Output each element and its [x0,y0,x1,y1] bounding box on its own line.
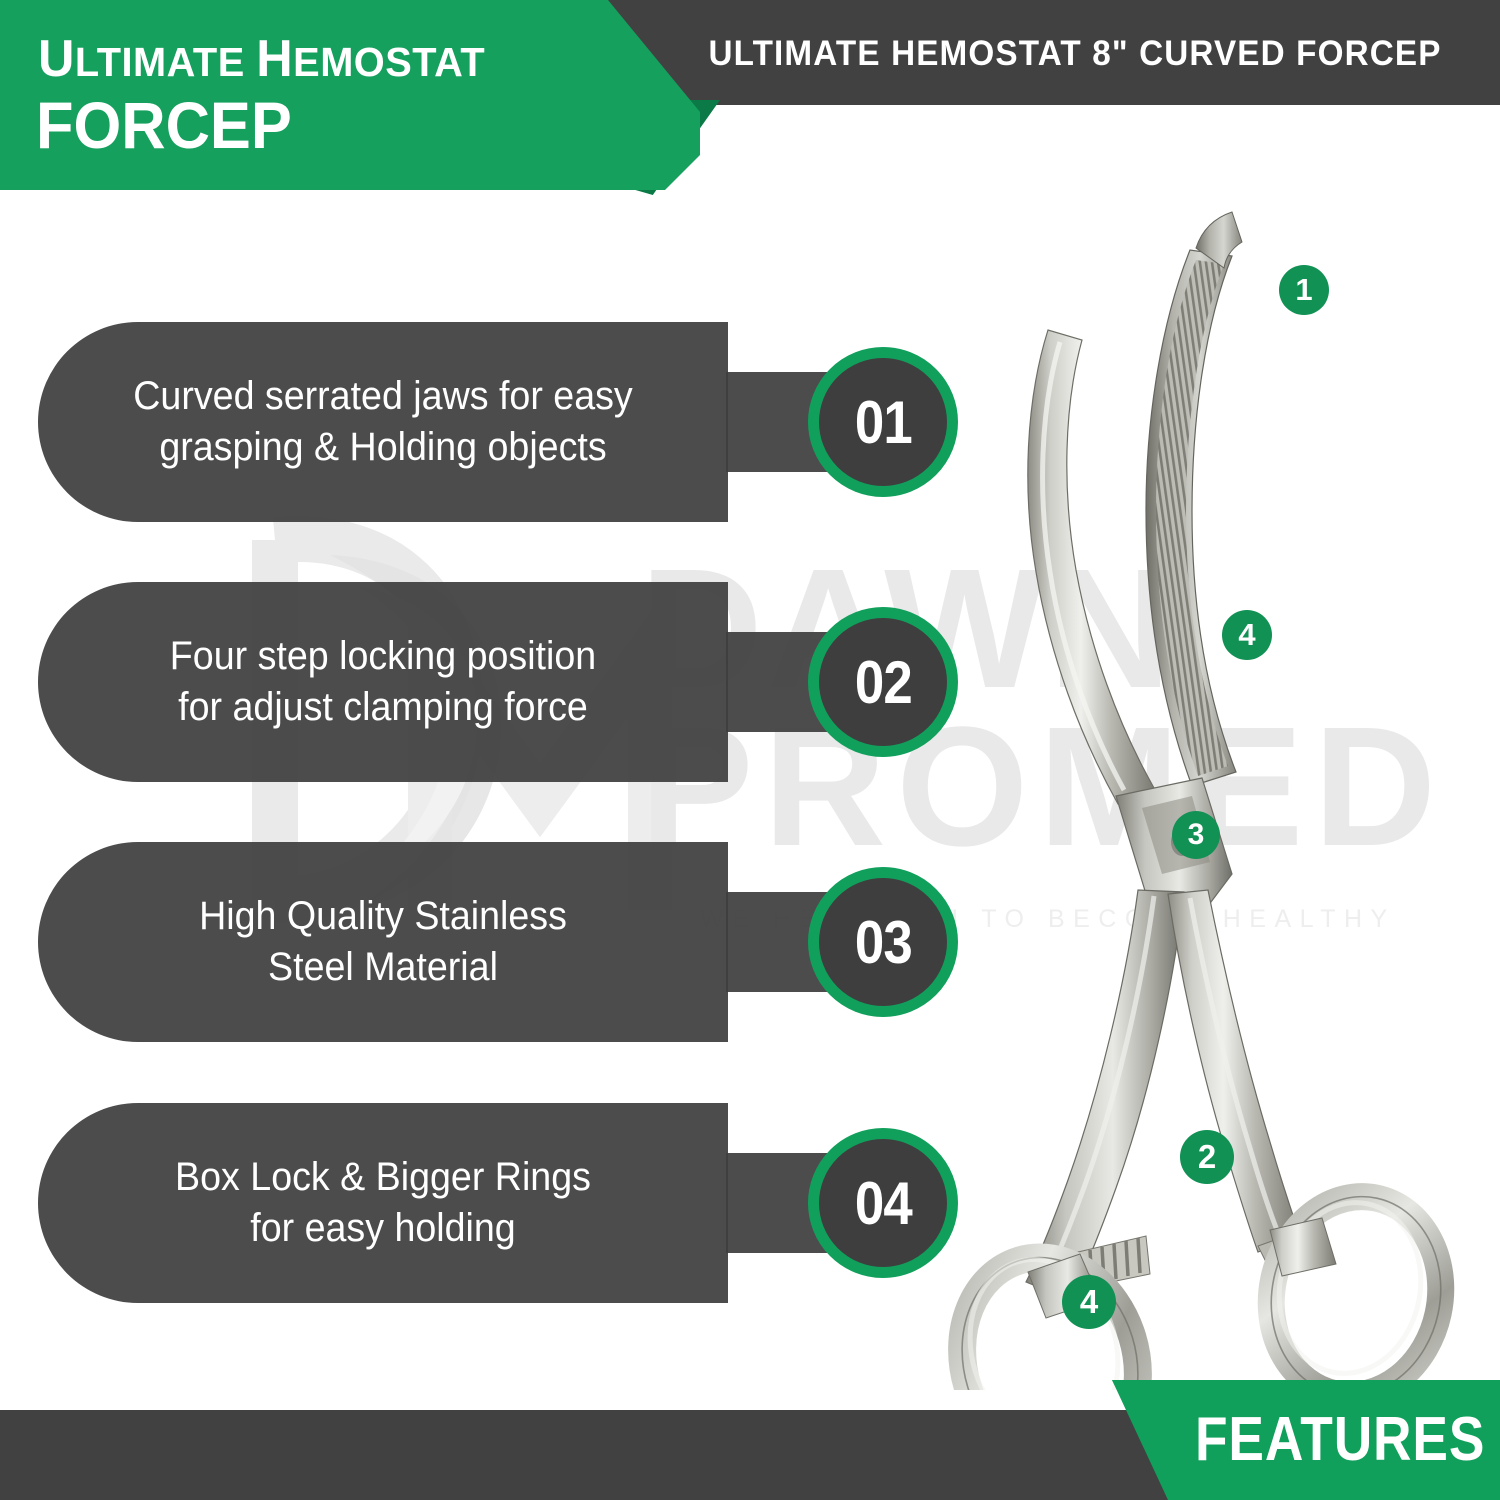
brand-line-1-text-b: EMOSTAT [293,39,485,85]
feature-text-03-line1: High Quality Stainless [199,894,567,938]
forcep-right-shank [1168,890,1300,1252]
feature-text-04-line1: Box Lock & Bigger Rings [175,1155,591,1199]
product-title: ULTIMATE HEMOSTAT 8" CURVED FORCEP [700,34,1451,74]
brand-line-1: ULTIMATE HEMOSTAT [38,29,485,89]
brand-line-1-text-a: LTIMATE [75,39,256,85]
infographic-canvas: DAWN PROMED WE HELP YOU TO BECOME HEALTH… [0,0,1500,1500]
brand-line-1-cap-u: U [38,30,75,88]
feature-text-01: Curved serrated jaws for easy grasping &… [87,322,679,522]
feature-text-02-line2: for adjust clamping force [178,685,588,729]
page-header: ULTIMATE HEMOSTAT 8" CURVED FORCEP ULTIM… [0,0,1500,200]
feature-badge-04[interactable]: 04 [808,1128,958,1278]
forcep-left-shank [1026,890,1184,1300]
feature-text-04-line2: for easy holding [250,1206,515,1250]
page-footer: FEATURES [0,1380,1500,1500]
feature-number-04: 04 [855,1169,912,1238]
feature-badge-02[interactable]: 02 [808,607,958,757]
callout-marker-2: 4 [1222,610,1272,660]
forcep-illustration [940,190,1480,1390]
feature-row-01[interactable]: Curved serrated jaws for easy grasping &… [38,322,958,522]
callout-marker-1: 1 [1279,265,1329,315]
feature-text-02: Four step locking position for adjust cl… [87,582,679,782]
feature-text-01-line1: Curved serrated jaws for easy [133,374,632,418]
feature-text-02-line1: Four step locking position [170,634,596,678]
feature-text-03: High Quality Stainless Steel Material [87,842,679,1042]
callout-marker-4: 2 [1180,1130,1234,1184]
callout-marker-3: 3 [1172,811,1220,859]
product-image-forcep [940,190,1480,1390]
brand-line-1-cap-h: H [256,30,293,88]
feature-badge-03[interactable]: 03 [808,867,958,1017]
feature-number-02: 02 [855,648,912,717]
feature-row-04[interactable]: Box Lock & Bigger Rings for easy holding… [38,1103,958,1303]
callout-marker-5: 4 [1062,1275,1116,1329]
footer-dark-bar [0,1410,1190,1500]
feature-row-03[interactable]: High Quality Stainless Steel Material 03 [38,842,958,1042]
feature-badge-01[interactable]: 01 [808,347,958,497]
feature-text-04: Box Lock & Bigger Rings for easy holding [87,1103,679,1303]
feature-text-03-line2: Steel Material [268,945,498,989]
feature-number-03: 03 [855,908,912,977]
feature-text-01-line2: grasping & Holding objects [159,425,606,469]
brand-line-2: FORCEP [36,92,292,158]
footer-label: FEATURES [1195,1404,1485,1475]
feature-number-01: 01 [855,388,912,457]
feature-row-02[interactable]: Four step locking position for adjust cl… [38,582,958,782]
